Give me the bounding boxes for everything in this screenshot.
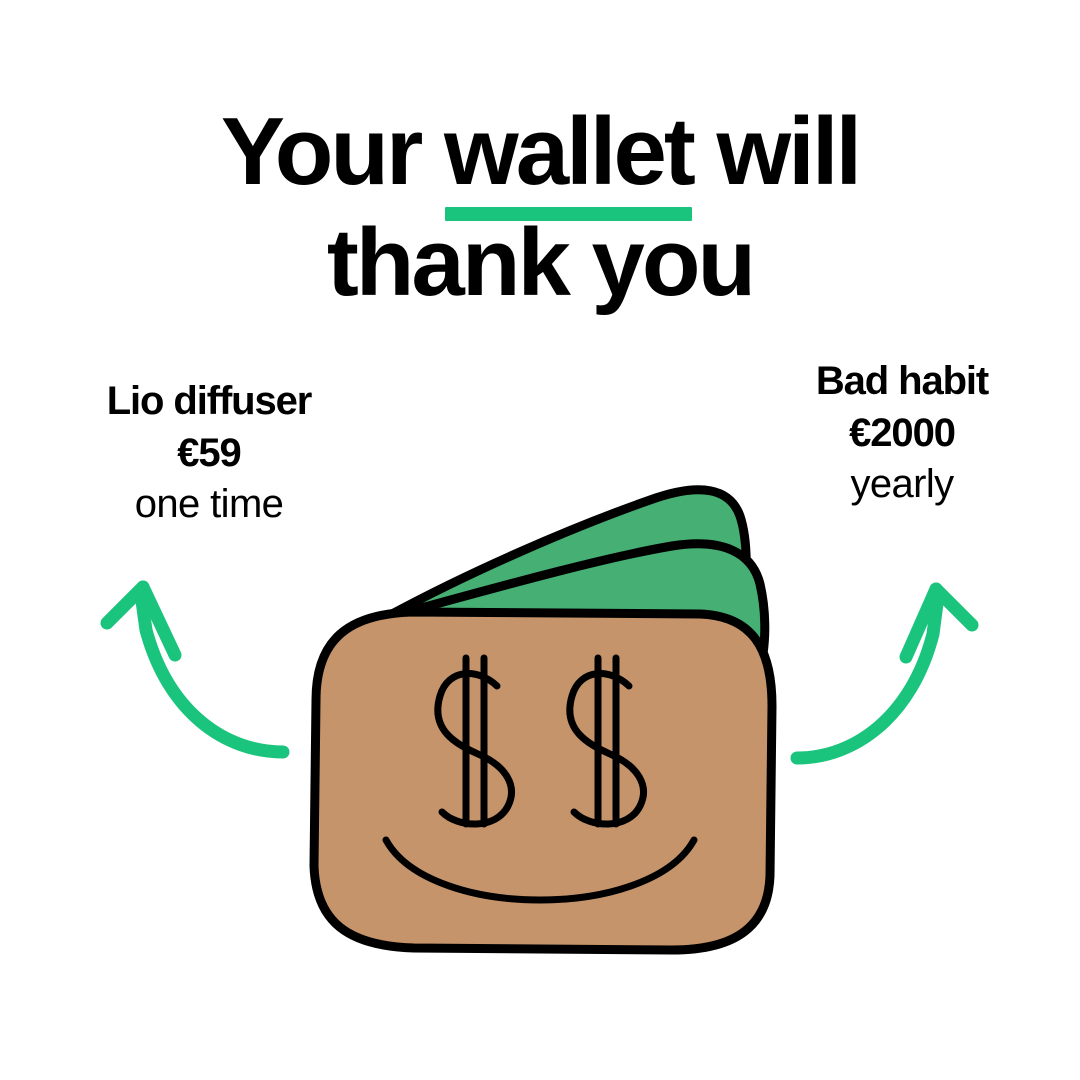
dollar-sign-eye-right [570,658,644,824]
right-price-label: Bad habit €2000 yearly [742,358,1062,507]
page-title: Your wallet will thank you [0,96,1080,319]
curved-arrow-up-left-icon [107,587,283,752]
right-label-title: Bad habit [742,358,1062,404]
right-label-period: yearly [742,461,1062,507]
headline-highlight-wallet: wallet [444,96,693,207]
headline-underline-rule [445,207,692,221]
headline-text-before: Your [221,98,444,205]
left-price-label: Lio diffuser €59 one time [44,378,374,527]
right-label-price: €2000 [742,410,1062,456]
cash-bill-back [392,490,746,616]
left-label-price: €59 [44,430,374,476]
curved-arrow-up-right-icon [797,589,972,758]
cash-bill-front [392,544,765,660]
headline-line-1: Your wallet will [0,96,1080,207]
left-label-title: Lio diffuser [44,378,374,424]
headline-highlight-text: wallet [444,98,693,205]
headline-line-2: thank you [0,207,1080,318]
promo-card: Your wallet will thank you Lio diffuser … [0,0,1080,1080]
headline-text-after: will [693,98,859,205]
left-label-period: one time [44,481,374,527]
dollar-sign-eye-left [438,658,512,824]
wallet-smile [386,840,694,900]
wallet-body [314,612,772,950]
